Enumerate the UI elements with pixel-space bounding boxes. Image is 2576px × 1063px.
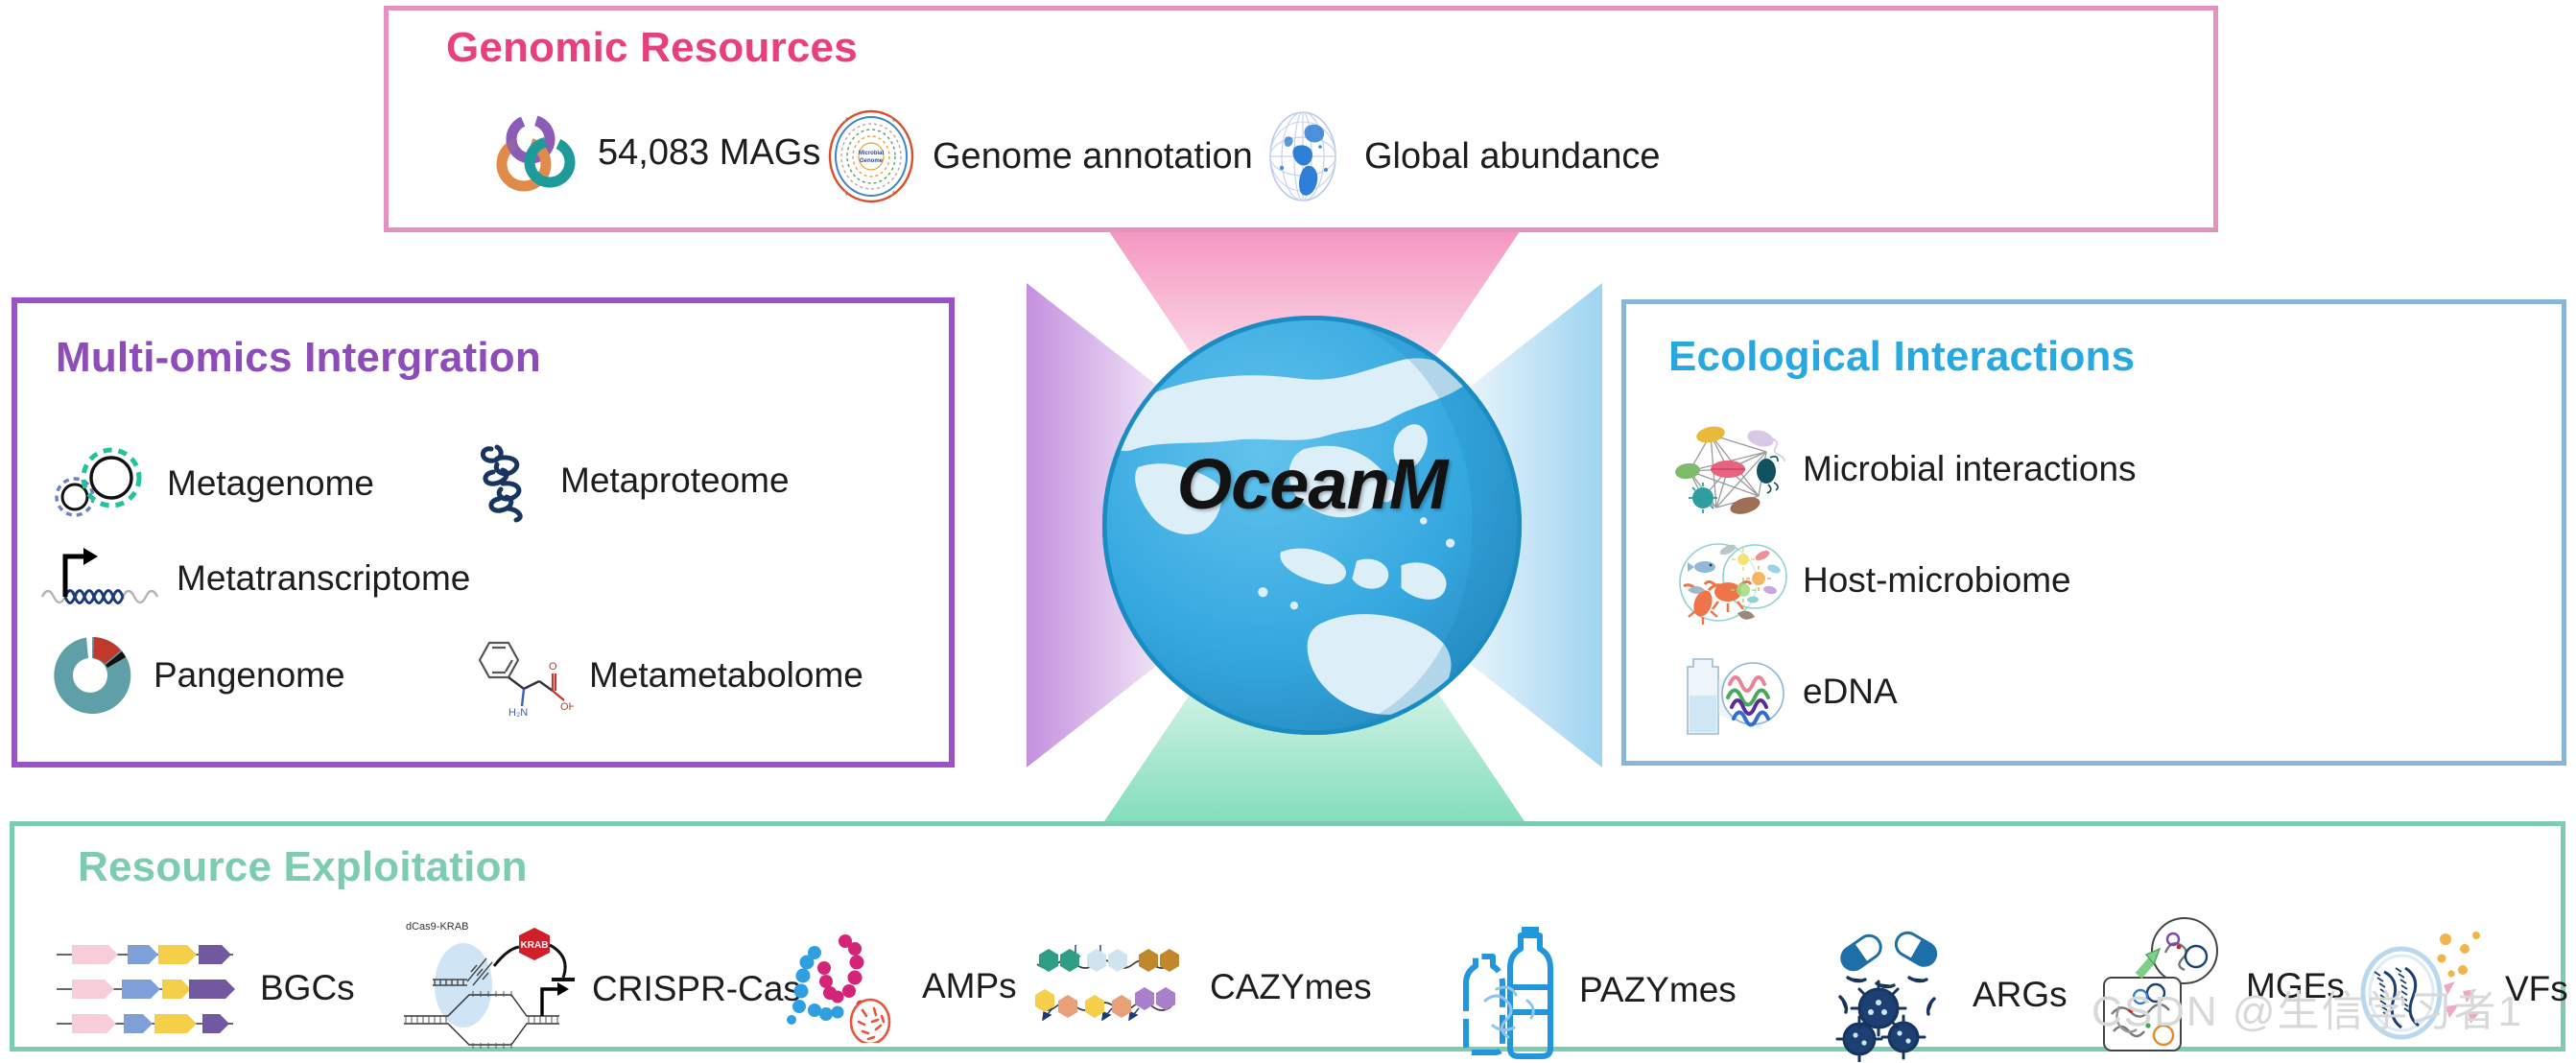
circular-genome-icon: Microbial Genome [825,108,917,204]
item-metametabolome: H₂N OH O Metametabolome [468,629,863,721]
amino-acid-icon: H₂N OH O [468,629,574,721]
item-metatranscriptome: Metatranscriptome [38,543,470,614]
item-label: Microbial interactions [1803,449,2137,489]
glycan-chain-icon [1031,933,1194,1041]
item-pazymes: PAZYmes [1439,920,1737,1060]
item-label: Metametabolome [589,655,863,696]
tube-dna-icon [1674,642,1787,742]
item-label: Metatranscriptome [177,558,470,599]
item-label: ARGs [1973,975,2068,1015]
item-label: Pangenome [154,655,345,696]
panel-title-ecological-interactions: Ecological Interactions [1668,333,2135,381]
item-label: CRISPR-Cas [592,969,801,1009]
wireframe-globe-icon [1257,108,1349,204]
circular-genome-caption-line1: Microbial [859,151,885,156]
item-genome-annotation: Microbial Genome Genome annotation [825,108,1253,204]
protein-fold-icon [468,437,545,524]
item-label: CAZYmes [1210,967,1372,1007]
panel-multi-omics: Multi-omics Intergration Metagenome [12,297,955,768]
rna-transcription-icon [38,543,161,614]
gene-cluster-arrows-icon [53,935,245,1041]
dcas9-krab-caption: dCas9-KRAB [406,921,468,933]
item-label: Global abundance [1364,136,1660,177]
panel-title-resource-exploitation: Resource Exploitation [78,843,528,891]
panel-title-genomic-resources: Genomic Resources [446,24,858,72]
panel-ecological-interactions: Ecological Interactions [1621,299,2566,766]
donut-chart-icon [46,629,138,721]
hydroxyl-label: OH [560,701,574,713]
panel-genomic-resources: Genomic Resources 54,083 MAGs [384,6,2218,232]
amino-group-label: H₂N [508,707,528,719]
item-args: ARGs [1823,928,2068,1062]
item-microbial-interactions: Microbial interactions [1674,419,2137,519]
item-label: 54,083 MAGs [598,132,820,174]
item-label: Genome annotation [933,136,1253,177]
item-label: PAZYmes [1579,970,1737,1010]
globe-illustration [1089,302,1535,748]
microbe-network-icon [1674,419,1787,519]
item-global-abundance: Global abundance [1257,108,1660,204]
item-crispr-cas: dCas9-KRAB [398,916,801,1062]
panel-title-multi-omics: Multi-omics Intergration [56,334,541,382]
watermark: CSDN @生信学习者1 [2092,977,2523,1038]
item-host-microbiome: Host-microbiome [1674,531,2071,630]
item-label: Metagenome [167,463,374,504]
item-bgcs: BGCs [53,935,355,1041]
item-edna: eDNA [1674,642,1898,742]
carbonyl-label: O [549,661,557,673]
peptide-beads-icon [782,930,907,1043]
circular-genome-caption-line2: Genome [860,158,884,164]
figure-canvas: OceanM Genomic Resources 54,083 MAGs [0,0,2576,1063]
item-label: Host-microbiome [1803,560,2071,601]
item-amps: AMPs [782,930,1017,1043]
mags-rings-icon [494,108,582,197]
center-label: OceanM [1089,443,1535,525]
plasmid-circles-icon [46,437,152,530]
marine-host-venn-icon [1674,531,1787,630]
item-pangenome: Pangenome [46,629,345,721]
item-label: AMPs [922,966,1017,1006]
item-label: BGCs [260,968,355,1008]
pills-bacteria-icon [1823,928,1957,1062]
item-label: eDNA [1803,672,1898,712]
item-metaproteome: Metaproteome [468,437,790,524]
item-label: Metaproteome [560,461,790,501]
item-mags: 54,083 MAGs [494,108,820,197]
plastic-bottles-icon [1439,920,1564,1060]
item-cazymes: CAZYmes [1031,933,1372,1041]
krab-badge-label: KRAB [521,940,549,951]
item-metagenome: Metagenome [46,437,374,530]
crispr-dcas9-icon: dCas9-KRAB [398,916,577,1062]
